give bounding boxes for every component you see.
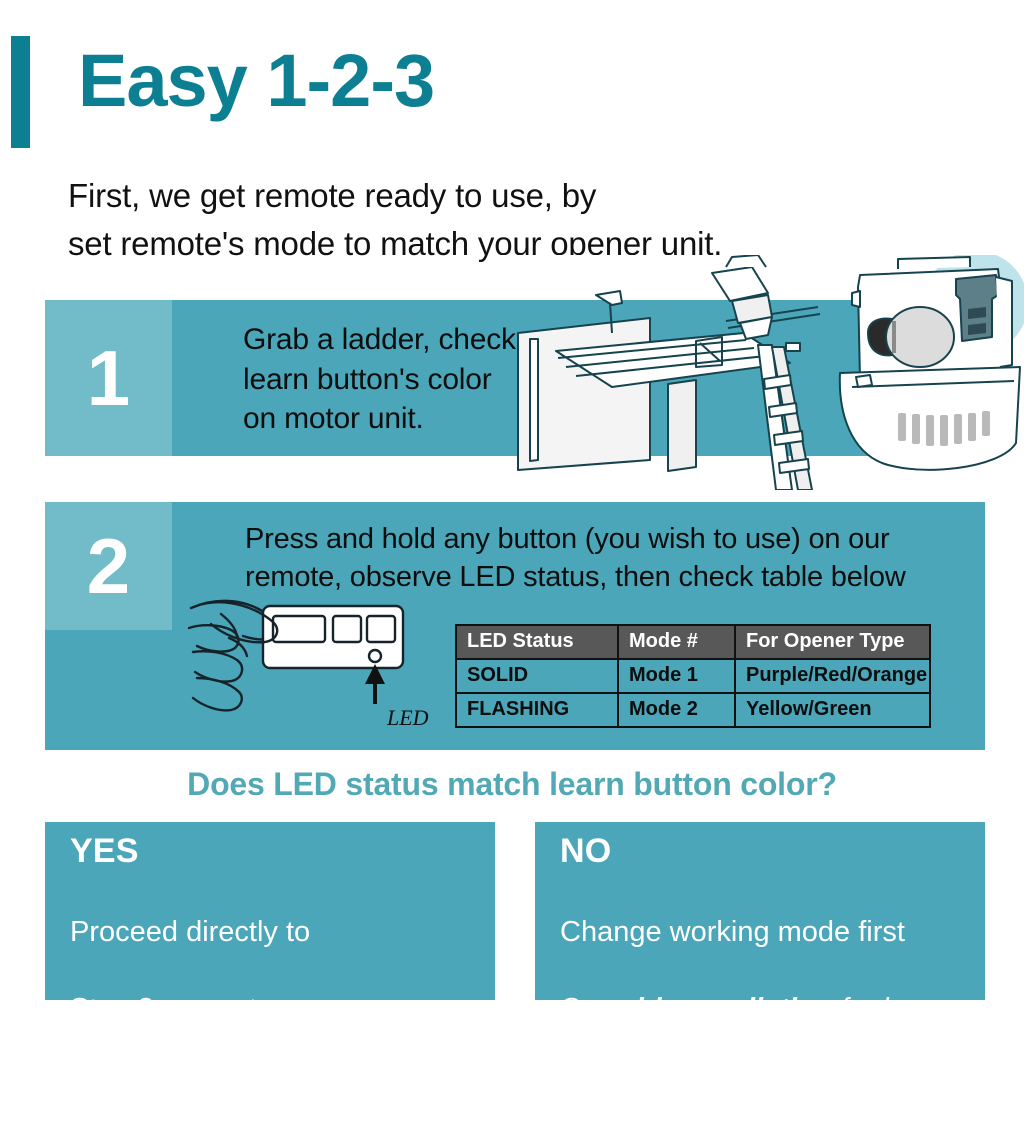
- no-title: NO: [560, 832, 611, 871]
- no-line-2-pre: See: [560, 993, 620, 1025]
- instruction-page: Easy 1-2-3 First, we get remote ready to…: [0, 0, 1024, 1024]
- led-callout-label: LED: [387, 705, 429, 731]
- no-line-2-post: for how: [832, 993, 935, 1025]
- step-1-number-box: 1: [45, 300, 172, 456]
- cell-mode: Mode 1: [618, 659, 735, 693]
- led-status-table: LED Status Mode # For Opener Type SOLID …: [455, 624, 931, 728]
- table-header-row: LED Status Mode # For Opener Type: [456, 625, 930, 659]
- table-header-opener-type: For Opener Type: [735, 625, 930, 659]
- no-line-2-emphasis: video on listing: [620, 993, 833, 1025]
- yes-answer-box: YES Proceed directly to Step 3 on next p…: [45, 822, 495, 1000]
- step-2-number-box: 2: [45, 502, 172, 630]
- title-accent-bar: [11, 36, 30, 148]
- yes-body: Proceed directly to Step 3 on next page: [70, 874, 330, 1067]
- cell-led-status: FLASHING: [456, 693, 618, 727]
- no-line-3: Then continue to Step 3: [560, 1067, 936, 1106]
- yes-title: YES: [70, 832, 139, 871]
- step-1-text: Grab a ladder, check learn button's colo…: [243, 320, 516, 439]
- garage-opener-illustration: [500, 255, 1024, 490]
- step-1-panel: 1 Grab a ladder, check learn button's co…: [45, 300, 985, 456]
- intro-paragraph: First, we get remote ready to use, by se…: [68, 172, 722, 268]
- no-body: Change working mode first See video on l…: [560, 874, 936, 1144]
- no-line-2: See video on listing for how: [560, 990, 936, 1029]
- table-header-led-status: LED Status: [456, 625, 618, 659]
- cell-mode: Mode 2: [618, 693, 735, 727]
- learn-button-highlight: [924, 255, 1024, 355]
- table-row: FLASHING Mode 2 Yellow/Green: [456, 693, 930, 727]
- no-line-1: Change working mode first: [560, 913, 936, 952]
- yes-line-1: Proceed directly to: [70, 913, 330, 952]
- table-header-mode: Mode #: [618, 625, 735, 659]
- table-row: SOLID Mode 1 Purple/Red/Orange: [456, 659, 930, 693]
- no-answer-box: NO Change working mode first See video o…: [535, 822, 985, 1000]
- step-2-text: Press and hold any button (you wish to u…: [245, 520, 906, 597]
- page-title: Easy 1-2-3: [78, 42, 434, 120]
- step-2-number: 2: [87, 527, 130, 605]
- decision-question: Does LED status match learn button color…: [0, 766, 1024, 803]
- cell-led-status: SOLID: [456, 659, 618, 693]
- cell-opener-type: Purple/Red/Orange: [735, 659, 930, 693]
- cell-opener-type: Yellow/Green: [735, 693, 930, 727]
- step-1-number: 1: [87, 339, 130, 417]
- yes-line-2: Step 3 on next page: [70, 990, 330, 1029]
- hand-holding-remote-illustration: [185, 594, 485, 744]
